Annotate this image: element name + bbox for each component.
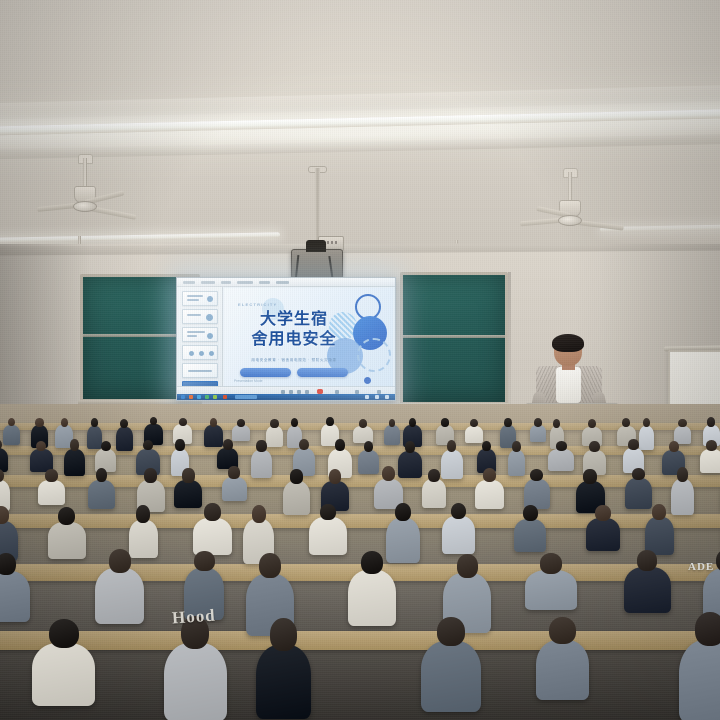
audience-member xyxy=(525,553,577,613)
audience-head xyxy=(628,439,639,450)
audience-head xyxy=(695,612,720,645)
bench-desk xyxy=(0,631,720,650)
audience-head xyxy=(483,468,497,482)
fan-rod xyxy=(83,158,87,188)
audience-member xyxy=(442,503,475,557)
audience-head xyxy=(0,553,16,576)
slide-thumbnail-panel[interactable] xyxy=(177,287,223,387)
audience-head xyxy=(451,503,467,520)
lecture-hall-photo: 院校 第四 xyxy=(0,0,720,720)
audience-head xyxy=(194,551,215,572)
audience-torso xyxy=(164,643,227,720)
audience-head xyxy=(389,419,396,427)
audience-head xyxy=(70,439,79,451)
audience-head xyxy=(589,441,600,452)
audience-head xyxy=(179,418,187,426)
audience-head xyxy=(652,504,666,520)
audience-member xyxy=(164,616,227,720)
audience-torso xyxy=(536,640,590,701)
audience-head xyxy=(540,553,562,573)
audience-torso xyxy=(95,568,144,623)
slide-buttons xyxy=(240,368,348,377)
audience-member xyxy=(671,467,694,518)
slide-title-line-2: 舍用电安全 xyxy=(236,330,352,350)
audience-head xyxy=(677,467,689,481)
audience-torso xyxy=(193,518,232,555)
audience-head xyxy=(669,441,679,452)
audience-head xyxy=(643,418,650,428)
audience-torso xyxy=(283,481,311,515)
wall-seam xyxy=(508,272,511,412)
audience-head xyxy=(553,419,560,428)
fluorescent-strip-light xyxy=(0,232,280,243)
slide-subtitle: 用电安全教育 · 宿舍用电规范 · 预防火灾隐患 xyxy=(238,358,350,363)
audience-member xyxy=(283,469,311,517)
audience-head xyxy=(447,440,456,452)
slide-button-right[interactable] xyxy=(297,368,348,377)
taskbar-icon[interactable] xyxy=(197,395,201,399)
audience-member xyxy=(548,441,574,473)
decor-circle xyxy=(364,377,371,384)
taskbar-icon[interactable] xyxy=(223,395,227,399)
audience-head xyxy=(45,469,58,482)
audience-head xyxy=(504,418,511,427)
taskbar-tray-icon[interactable] xyxy=(385,395,389,399)
slide-thumbnail[interactable] xyxy=(182,309,218,324)
slide-thumbnail[interactable] xyxy=(182,291,218,306)
audience-head xyxy=(361,551,383,574)
ceiling-fan xyxy=(40,158,130,218)
audience-member xyxy=(586,505,620,554)
audience-torso xyxy=(525,570,577,610)
audience-head xyxy=(595,505,611,521)
audience-head xyxy=(175,439,184,451)
audience-head xyxy=(549,617,576,644)
audience-head xyxy=(512,441,521,452)
audience-member xyxy=(536,617,590,705)
slide-button-left[interactable] xyxy=(240,368,291,377)
audience-torso xyxy=(348,570,396,626)
audience-head xyxy=(326,417,334,426)
decor-dashed-ring xyxy=(357,338,391,372)
audience-torso xyxy=(442,516,475,553)
taskbar-icon[interactable] xyxy=(205,395,209,399)
ceiling-beam xyxy=(0,133,720,160)
audience-head xyxy=(61,418,68,427)
audience-head xyxy=(706,440,717,451)
taskbar-tray-icon[interactable] xyxy=(365,395,369,399)
audience-member xyxy=(32,619,95,712)
audience-member xyxy=(88,468,115,512)
audience-member xyxy=(530,418,547,443)
audience-head xyxy=(329,469,342,484)
audience-torso xyxy=(64,449,85,476)
audience-head xyxy=(382,466,396,481)
audience-head xyxy=(395,503,411,521)
audience-head xyxy=(707,417,715,427)
audience-torso xyxy=(548,449,574,471)
audience-head xyxy=(556,441,567,451)
audience-head xyxy=(632,468,645,480)
audience-head xyxy=(270,618,297,650)
audience-head xyxy=(204,503,221,521)
audience-member xyxy=(64,439,85,478)
audience-head xyxy=(182,468,194,482)
audience-head xyxy=(441,418,450,427)
current-slide: ELECTRICITY 大学生宿 舍用电安全 用电安全教育 · 宿舍用电规范 ·… xyxy=(224,288,393,386)
audience-head xyxy=(320,504,336,521)
audience-torso xyxy=(624,567,670,613)
audience-torso xyxy=(309,517,346,555)
audience-member xyxy=(256,618,311,720)
audience-head xyxy=(588,419,596,428)
ceiling-fan xyxy=(525,172,615,232)
taskbar-icon[interactable] xyxy=(213,395,217,399)
slide-thumbnail[interactable] xyxy=(182,327,218,342)
audience-head xyxy=(428,469,440,482)
audience-member xyxy=(421,617,481,717)
audience-torso xyxy=(222,477,247,502)
projection-screen: ELECTRICITY 大学生宿 舍用电安全 用电安全教育 · 宿舍用电规范 ·… xyxy=(176,277,396,401)
audience-torso xyxy=(700,449,720,473)
audience-torso xyxy=(38,480,65,505)
audience-torso xyxy=(116,427,132,451)
fan-hub xyxy=(558,215,582,226)
audience-head xyxy=(210,418,218,427)
audience-head xyxy=(409,418,417,427)
audience-head xyxy=(256,440,266,452)
hoodie-graphic-text: Hood xyxy=(171,606,216,629)
audience-head xyxy=(49,619,79,649)
audience-head xyxy=(470,419,478,428)
windows-taskbar[interactable] xyxy=(177,394,395,400)
powerpoint-status-bar[interactable] xyxy=(177,386,395,394)
slide-title: 大学生宿 舍用电安全 xyxy=(236,310,352,349)
audience-member xyxy=(95,549,144,628)
audience-torso xyxy=(514,519,546,552)
audience-head xyxy=(405,441,415,453)
slide-thumbnail[interactable] xyxy=(182,345,218,360)
fan-rod xyxy=(568,172,572,202)
audience-torso xyxy=(671,479,694,515)
audience-torso xyxy=(679,640,720,720)
right-chalkboard xyxy=(400,272,508,405)
taskbar-tray-icon[interactable] xyxy=(375,395,379,399)
audience-torso xyxy=(421,641,481,712)
audience-torso xyxy=(256,645,311,719)
audience-torso xyxy=(475,480,503,509)
audience-head xyxy=(290,469,303,483)
audience-member xyxy=(514,505,546,554)
audience-head xyxy=(270,419,278,428)
audience-member xyxy=(348,551,396,630)
audience-head xyxy=(437,617,465,646)
taskbar-icon[interactable] xyxy=(181,395,185,399)
audience-member xyxy=(679,612,720,720)
taskbar-icon[interactable] xyxy=(189,395,193,399)
slide-footer: Presentation Mode xyxy=(234,379,262,383)
jersey-graphic-text: ADE xyxy=(688,561,714,573)
audience-member xyxy=(48,507,86,563)
audience-head xyxy=(58,507,75,526)
audience-head xyxy=(223,439,234,450)
fan-hub xyxy=(73,201,97,212)
audience-head xyxy=(523,505,538,521)
seated-students: HoodADE xyxy=(0,404,720,720)
audience-torso xyxy=(0,571,30,621)
audience-torso xyxy=(530,425,547,442)
audience-torso xyxy=(251,450,272,478)
powerpoint-ribbon[interactable] xyxy=(177,278,395,287)
ceiling-mounted-projector xyxy=(291,249,343,279)
audience-head xyxy=(228,466,239,479)
audience-head xyxy=(101,441,111,452)
presenter-hair xyxy=(552,334,584,352)
slide-title-line-1: 大学生宿 xyxy=(236,310,352,330)
audience-member xyxy=(475,468,503,511)
audience-head xyxy=(259,553,281,578)
audience-head xyxy=(35,418,44,427)
audience-head xyxy=(678,419,686,428)
audience-head xyxy=(583,469,596,484)
audience-torso xyxy=(48,522,86,559)
audience-head xyxy=(109,549,131,572)
audience-head xyxy=(534,418,542,427)
audience-member xyxy=(251,440,272,480)
audience-member xyxy=(624,550,670,617)
audience-head xyxy=(237,419,245,427)
audience-head xyxy=(364,441,374,452)
audience-torso xyxy=(32,643,95,706)
presenter-shirt xyxy=(556,367,581,403)
audience-head xyxy=(637,550,657,571)
audience-head xyxy=(335,439,345,451)
audience-torso xyxy=(88,480,115,509)
audience-head xyxy=(530,469,543,482)
audience-torso xyxy=(586,518,620,551)
audience-member xyxy=(309,504,346,559)
audience-head xyxy=(482,441,491,451)
slide-thumbnail[interactable] xyxy=(182,363,218,378)
audience-head xyxy=(144,468,157,483)
audience-member xyxy=(700,440,720,475)
audience-member xyxy=(116,419,132,453)
audience-head xyxy=(457,554,478,577)
audience-member xyxy=(0,553,30,626)
audience-member xyxy=(38,469,65,507)
audience-head xyxy=(96,468,107,483)
taskbar-window[interactable] xyxy=(235,395,257,399)
audience-head xyxy=(136,505,150,523)
audience-member xyxy=(222,466,247,503)
audience-head xyxy=(252,505,266,523)
slide-eyebrow: ELECTRICITY xyxy=(238,302,277,307)
audience-head xyxy=(359,419,367,428)
